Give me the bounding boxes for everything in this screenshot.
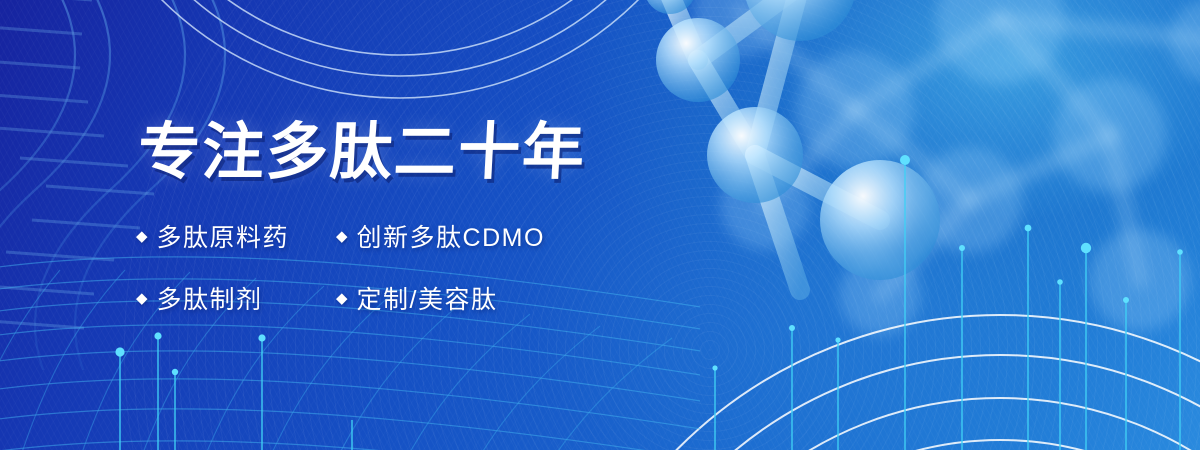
page-title: 专注多肽二十年	[136, 122, 587, 184]
feature-row: ◆ 多肽制剂 ◆ 定制/美容肽	[136, 280, 606, 316]
list-item-label: 创新多肽CDMO	[357, 218, 545, 254]
peptide-hero-banner: 专注多肽二十年 ◆ 多肽原料药 ◆ 创新多肽CDMO ◆ 多肽制剂 ◆	[0, 0, 1200, 450]
diamond-bullet-icon: ◆	[136, 229, 148, 244]
feature-list: ◆ 多肽原料药 ◆ 创新多肽CDMO ◆ 多肽制剂 ◆ 定制/美容肽	[136, 218, 606, 316]
list-item[interactable]: ◆ 多肽原料药	[136, 218, 336, 254]
banner-content: 专注多肽二十年 ◆ 多肽原料药 ◆ 创新多肽CDMO ◆ 多肽制剂 ◆	[0, 0, 700, 450]
list-item[interactable]: ◆ 多肽制剂	[136, 280, 336, 316]
list-item-label: 多肽原料药	[157, 218, 290, 254]
diamond-bullet-icon: ◆	[336, 229, 348, 244]
list-item-label: 定制/美容肽	[357, 280, 498, 316]
diamond-bullet-icon: ◆	[336, 291, 348, 306]
list-item[interactable]: ◆ 定制/美容肽	[336, 280, 498, 316]
feature-row: ◆ 多肽原料药 ◆ 创新多肽CDMO	[136, 218, 606, 254]
diamond-bullet-icon: ◆	[136, 291, 148, 306]
list-item-label: 多肽制剂	[157, 280, 263, 316]
list-item[interactable]: ◆ 创新多肽CDMO	[336, 218, 545, 254]
